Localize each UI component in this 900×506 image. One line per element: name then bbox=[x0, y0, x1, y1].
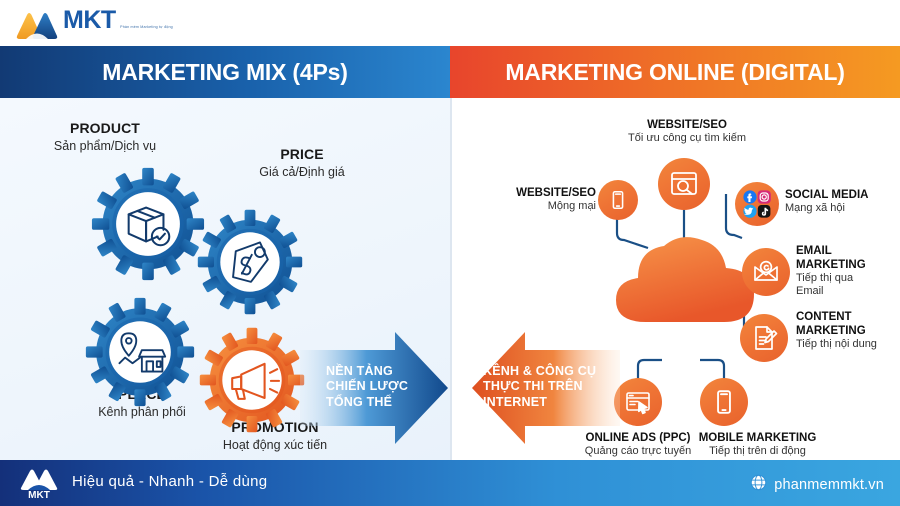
mobile-marketing-title: MOBILE MARKETING bbox=[660, 431, 855, 445]
gear-promotion[interactable] bbox=[198, 326, 306, 434]
email-marketing-title-2: MARKETING bbox=[796, 258, 900, 272]
node-icon-mobile-marketing[interactable] bbox=[700, 378, 748, 426]
mkt-logo-white-icon: MKT bbox=[16, 466, 62, 500]
label-price: PRICE Giá cả/Định giá bbox=[222, 146, 382, 180]
price-title: PRICE bbox=[222, 146, 382, 164]
node-label-social-media: SOCIAL MEDIA Mạng xã hội bbox=[785, 188, 900, 215]
node-label-website-seo-top: WEBSITE/SEO Tối ưu công cụ tìm kiếm bbox=[602, 118, 772, 145]
website-seo-top-subtitle: Tối ưu công cụ tìm kiếm bbox=[602, 132, 772, 145]
instagram-icon bbox=[758, 190, 771, 203]
header-marketing-mix: MARKETING MIX (4Ps) bbox=[0, 46, 450, 98]
node-label-content-marketing: CONTENT MARKETING Tiếp thị nội dung bbox=[796, 310, 900, 351]
website-seo-left-title: WEBSITE/SEO bbox=[476, 186, 596, 200]
node-icon-email[interactable] bbox=[742, 248, 790, 296]
social-media-title: SOCIAL MEDIA bbox=[785, 188, 900, 202]
section-headers: MARKETING MIX (4Ps) MARKETING ONLINE (DI… bbox=[0, 46, 900, 98]
header-right-title: MARKETING ONLINE (DIGITAL) bbox=[505, 59, 844, 86]
infographic-canvas: MKT Phần mềm Marketing tự động MARKETING… bbox=[0, 0, 900, 506]
brand-logo: MKT Phần mềm Marketing tự động bbox=[14, 6, 173, 40]
arrow-right-text: KÊNH & CÔNG CỤ THỰC THI TRÊN INTERNET bbox=[483, 364, 596, 410]
content-marketing-subtitle: Tiếp thị nội dung bbox=[796, 338, 900, 351]
node-icon-content[interactable] bbox=[740, 314, 788, 362]
price-subtitle: Giá cả/Định giá bbox=[222, 165, 382, 181]
mkt-logo-icon bbox=[14, 6, 60, 40]
node-label-website-seo-left: WEBSITE/SEO Mộng mại bbox=[476, 186, 596, 213]
svg-text:MKT: MKT bbox=[28, 490, 50, 500]
document-pencil-icon bbox=[750, 324, 778, 352]
arrow-right-line-1: KÊNH & CÔNG CỤ bbox=[483, 364, 596, 379]
content-area: PRODUCT Sản phẩm/Dịch vụ PRICE Giá cả/Đị… bbox=[0, 98, 900, 460]
footer-website-text: phanmemmkt.vn bbox=[774, 477, 884, 493]
website-seo-left-subtitle: Mộng mại bbox=[476, 200, 596, 213]
brand-tagline: Phần mềm Marketing tự động bbox=[120, 25, 173, 29]
mobile-marketing-subtitle: Tiếp thị trên di động bbox=[660, 445, 855, 458]
arrow-right-line-2: THỰC THI TRÊN bbox=[483, 379, 596, 394]
arrow-left-line-2: CHIẾN LƯỢC bbox=[326, 379, 408, 394]
top-logo-bar: MKT Phần mềm Marketing tự động bbox=[0, 0, 900, 46]
footer-bar: MKT Hiệu quả - Nhanh - Dễ dùng phanmemmk… bbox=[0, 460, 900, 506]
footer-website[interactable]: phanmemmkt.vn bbox=[750, 474, 884, 496]
smartphone-icon bbox=[711, 389, 737, 415]
cloud-icon bbox=[604, 226, 764, 339]
gear-product[interactable] bbox=[90, 166, 206, 282]
node-icon-search-window[interactable] bbox=[658, 158, 710, 210]
arrow-left-line-1: NỀN TẢNG bbox=[326, 364, 408, 379]
node-label-email-marketing: EMAIL MARKETING Tiếp thị qua Email bbox=[796, 244, 900, 299]
header-marketing-online: MARKETING ONLINE (DIGITAL) bbox=[450, 46, 900, 98]
globe-icon bbox=[750, 474, 767, 496]
mobile-phone-icon bbox=[607, 189, 629, 211]
gear-place[interactable] bbox=[84, 296, 196, 408]
website-seo-top-title: WEBSITE/SEO bbox=[602, 118, 772, 132]
node-icon-online-ads[interactable] bbox=[614, 378, 662, 426]
search-window-icon bbox=[669, 169, 699, 199]
email-icon bbox=[752, 258, 780, 286]
product-title: PRODUCT bbox=[20, 120, 190, 138]
email-marketing-title-1: EMAIL bbox=[796, 244, 900, 258]
footer-slogan: Hiệu quả - Nhanh - Dễ dùng bbox=[72, 473, 267, 490]
node-label-mobile-marketing: MOBILE MARKETING Tiếp thị trên di động bbox=[660, 431, 855, 458]
node-icon-social-media[interactable] bbox=[735, 182, 779, 226]
arrow-right-line-3: INTERNET bbox=[483, 395, 596, 410]
gear-price[interactable] bbox=[196, 208, 304, 316]
header-left-title: MARKETING MIX (4Ps) bbox=[102, 59, 347, 86]
content-marketing-title-1: CONTENT bbox=[796, 310, 900, 324]
brand-name: MKT bbox=[63, 6, 116, 34]
arrow-left-text: NỀN TẢNG CHIẾN LƯỢC TỔNG THỂ bbox=[326, 364, 408, 410]
node-icon-mobile-phone[interactable] bbox=[598, 180, 638, 220]
email-marketing-subtitle: Tiếp thị qua Email bbox=[796, 272, 868, 299]
content-marketing-title-2: MARKETING bbox=[796, 324, 900, 338]
ad-click-icon bbox=[624, 388, 652, 416]
label-product: PRODUCT Sản phẩm/Dịch vụ bbox=[20, 120, 190, 154]
arrow-left-line-3: TỔNG THỂ bbox=[326, 395, 408, 410]
social-media-icon bbox=[740, 187, 774, 221]
center-arrows: NỀN TẢNG CHIẾN LƯỢC TỔNG THỂ KÊNH & CÔNG… bbox=[300, 328, 620, 448]
product-subtitle: Sản phẩm/Dịch vụ bbox=[20, 139, 190, 155]
social-media-subtitle: Mạng xã hội bbox=[785, 202, 900, 215]
